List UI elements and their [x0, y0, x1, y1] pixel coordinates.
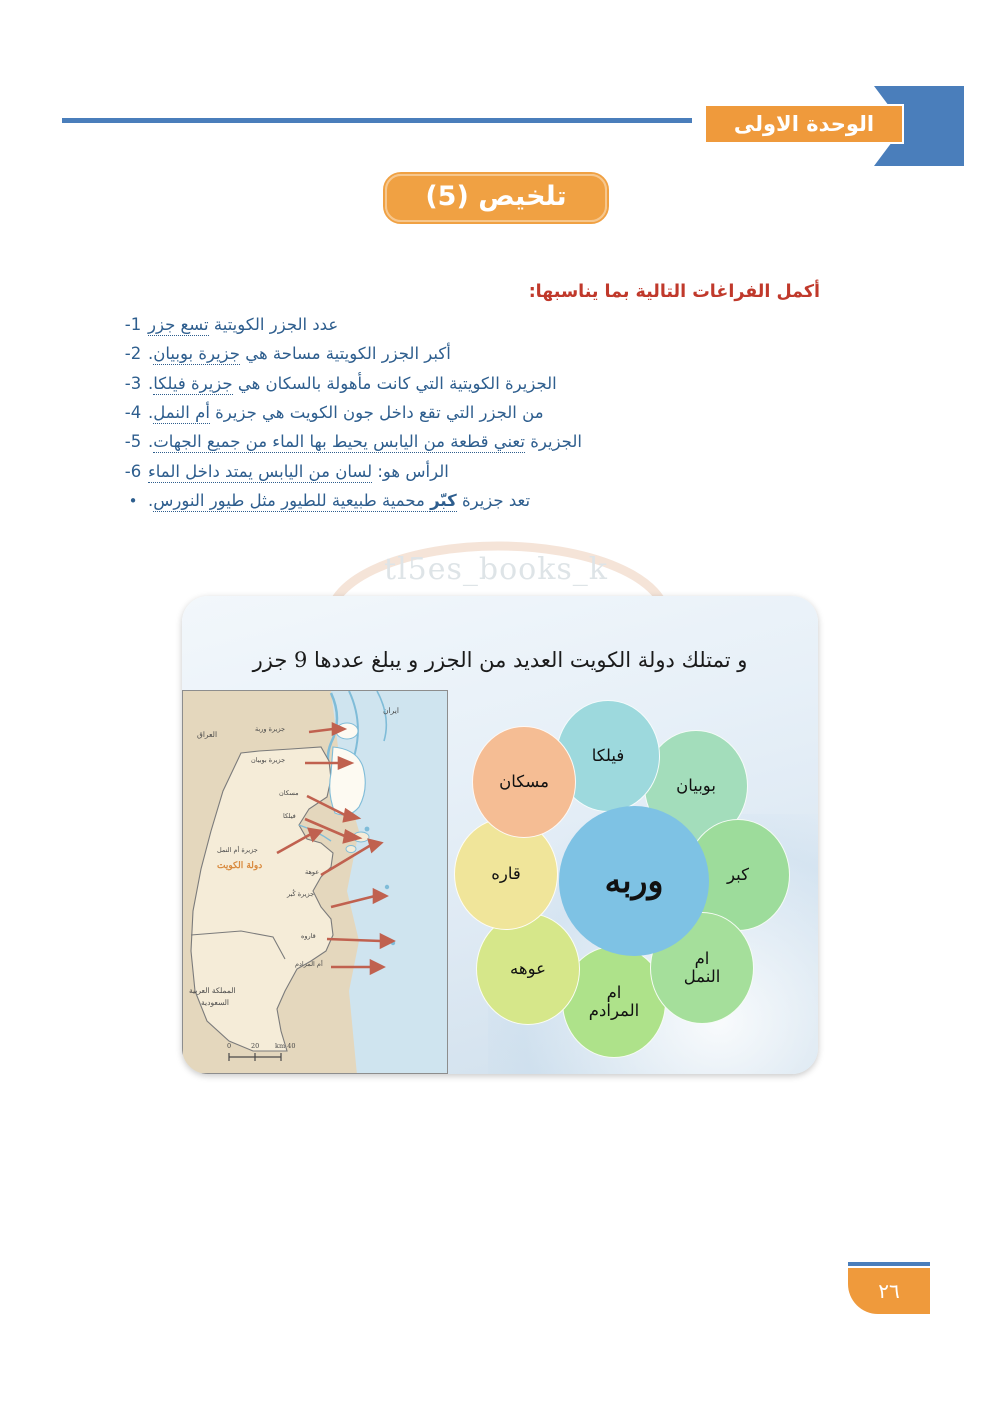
question-prefix: تعد جزيرة: [457, 491, 530, 510]
question-text: الرأس هو: لسان من اليابس يمتد داخل الماء: [146, 457, 449, 486]
answer-blank: جزيرة فيلكا: [153, 374, 232, 395]
list-marker: -3: [120, 369, 146, 398]
page-number: ٢٦: [848, 1268, 930, 1314]
questions-heading: أكمل الفراغات التالية بما يناسبها:: [120, 282, 820, 304]
kuwait-map: العراق ايران دولة الكويت المملكة العربية…: [182, 690, 448, 1074]
question-prefix: الجزيرة الكويتية التي كانت مأهولة بالسكا…: [233, 374, 557, 393]
question-prefix: أكبر الجزر الكويتية مساحة هي: [240, 344, 451, 363]
page-footer: ٢٦: [848, 1262, 930, 1320]
question-prefix: الرأس هو:: [372, 462, 449, 481]
question-text: الجزيرة الكويتية التي كانت مأهولة بالسكا…: [146, 369, 557, 398]
list-item: الجزيرة تعني قطعة من اليابس يحيط بها الم…: [120, 427, 820, 456]
document-page: الوحدة الاولى تلخيص (5) أكمل الفراغات ال…: [0, 0, 992, 1403]
question-text: تعد جزيرة كبّر محمية طبيعية للطيور مثل ط…: [146, 486, 530, 515]
page-header: الوحدة الاولى: [0, 86, 992, 166]
petal-center-warba: وربه: [559, 806, 709, 956]
answer-blank: لسان من اليابس يمتد داخل الماء: [148, 462, 372, 483]
answer-blank: تعني قطعة من اليابس يحيط بها الماء من جم…: [153, 432, 525, 453]
question-text: من الجزر التي تقع داخل جون الكويت هي جزي…: [146, 398, 544, 427]
question-prefix: الجزيرة: [525, 432, 582, 451]
list-marker: -1: [120, 310, 146, 339]
map-scale-tick-40km: 40 km: [275, 1043, 295, 1050]
map-label-umm-al-namil-island: جزيرة أم النمل: [217, 847, 258, 854]
map-graphic: [182, 691, 447, 1074]
answer-blank: تسع جزر: [148, 315, 209, 336]
list-marker: -5: [120, 427, 146, 456]
questions-list: عدد الجزر الكويتية تسع جزر -1 أكبر الجزر…: [120, 310, 820, 516]
map-label-iraq: العراق: [197, 731, 217, 740]
unit-banner: الوحدة الاولى: [704, 104, 904, 144]
answer-blank: محمية طبيعية للطيور مثل طيور النورس: [153, 491, 430, 512]
islands-petal-diagram: فيلكا بوبيان كبر ام النمل ام المرادم عوه…: [458, 694, 810, 1066]
footer-rule: [848, 1262, 930, 1266]
list-item: من الجزر التي تقع داخل جون الكويت هي جزي…: [120, 398, 820, 427]
answer-blank: جزيرة بوبيان: [153, 344, 240, 365]
figure-islands-of-kuwait: و تمتلك دولة الكويت العديد من الجزر و يب…: [182, 596, 818, 1074]
watermark-text: tl5es_books_k: [0, 552, 992, 587]
list-marker: -6: [120, 457, 146, 486]
page-title: تلخيص (5): [385, 174, 606, 222]
map-scale-tick-0: 0: [227, 1043, 231, 1050]
list-item: الرأس هو: لسان من اليابس يمتد داخل الماء…: [120, 457, 820, 486]
list-item: الجزيرة الكويتية التي كانت مأهولة بالسكا…: [120, 369, 820, 398]
map-scale-tick-20: 20: [251, 1043, 259, 1050]
map-label-warba-island: جزيرة وربة: [255, 726, 285, 733]
figure-caption: و تمتلك دولة الكويت العديد من الجزر و يب…: [182, 648, 818, 672]
map-label-saudi-line1: المملكة العربية: [189, 987, 236, 996]
answer-blank: أم النمل: [153, 403, 210, 424]
map-label-kuwait: دولة الكويت: [217, 861, 262, 871]
questions-block: أكمل الفراغات التالية بما يناسبها: عدد ا…: [120, 282, 820, 515]
header-rule: [62, 118, 692, 123]
map-label-kubbar-island: جزيرة كُبر: [287, 891, 314, 898]
map-label-bubiyan-island: جزيرة بوبيان: [251, 757, 285, 764]
question-text: عدد الجزر الكويتية تسع جزر: [146, 310, 338, 339]
map-label-iran: ايران: [383, 707, 399, 716]
list-item: عدد الجزر الكويتية تسع جزر -1: [120, 310, 820, 339]
map-label-failaka-island: فيلكا: [283, 813, 296, 820]
page-title-wrap: تلخيص (5): [0, 174, 992, 222]
answer-blank-bold: كبّر: [430, 491, 457, 512]
question-text: أكبر الجزر الكويتية مساحة هي جزيرة بوبيا…: [146, 339, 451, 368]
map-label-saudi-line2: السعودية: [201, 999, 229, 1008]
list-marker: •: [120, 488, 146, 515]
list-item: تعد جزيرة كبّر محمية طبيعية للطيور مثل ط…: [120, 486, 820, 515]
petal-maskan: مسكان: [472, 726, 576, 838]
question-text: الجزيرة تعني قطعة من اليابس يحيط بها الم…: [146, 427, 582, 456]
map-label-qaruh-island: قاروه: [301, 933, 316, 940]
petal-awha: عوهه: [476, 913, 580, 1025]
question-prefix: من الجزر التي تقع داخل جون الكويت هي جزي…: [210, 403, 544, 422]
list-item: أكبر الجزر الكويتية مساحة هي جزيرة بوبيا…: [120, 339, 820, 368]
map-label-umm-al-maradim-island: أم المرادم: [295, 961, 323, 968]
map-label-maskan-island: مسكان: [279, 790, 299, 797]
list-marker: -4: [120, 398, 146, 427]
list-marker: -2: [120, 339, 146, 368]
question-prefix: عدد الجزر الكويتية: [209, 315, 339, 334]
map-label-awha-island: عوهة: [305, 869, 319, 876]
